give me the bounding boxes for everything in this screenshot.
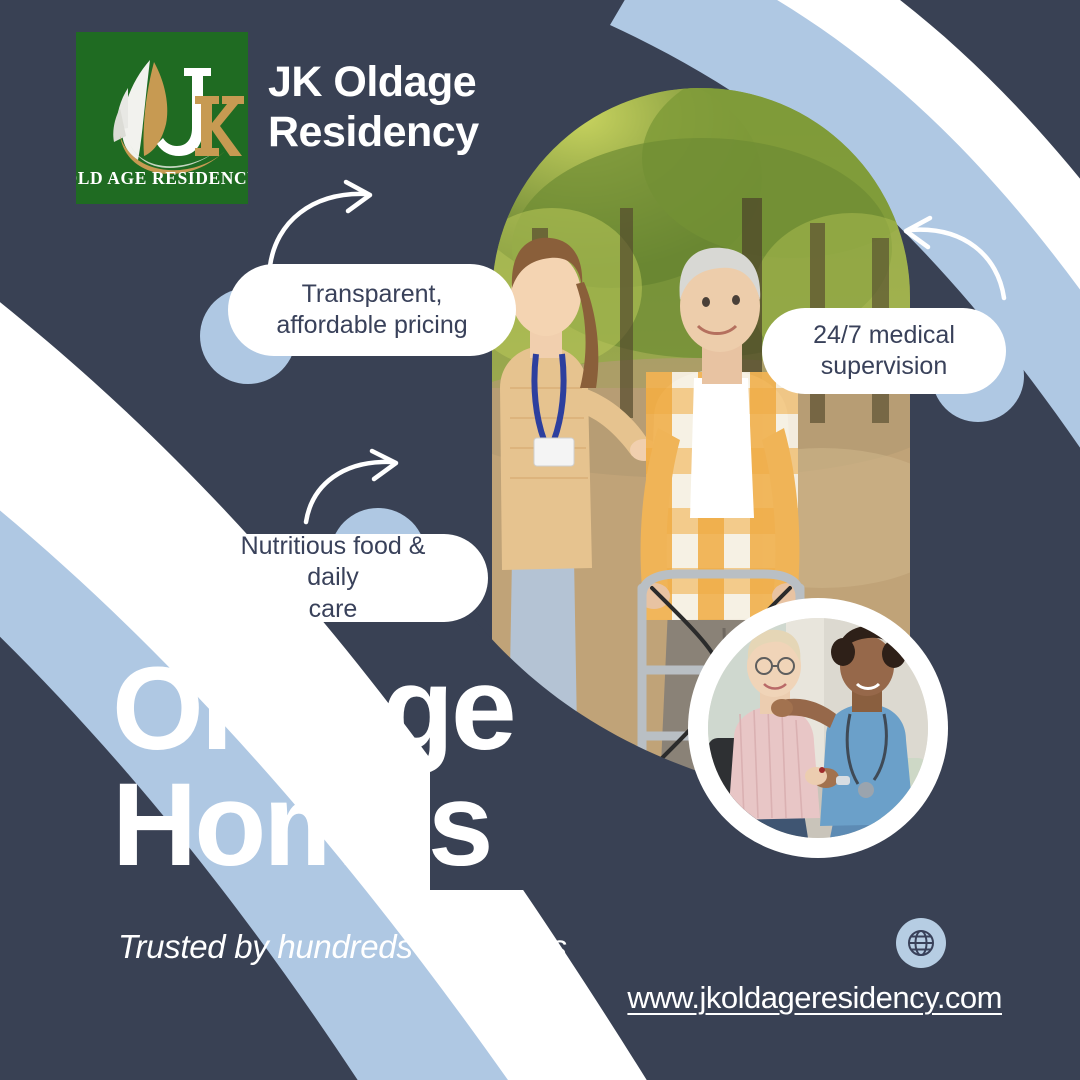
brand-name: JK Oldage Residency	[268, 32, 479, 158]
inset-photo-frame	[688, 598, 948, 858]
headline-line2: Homes	[112, 768, 514, 884]
feature-pill-medical[interactable]: 24/7 medicalsupervision	[762, 308, 1006, 394]
globe-icon	[896, 918, 946, 968]
tagline: Trusted by hundreds of families	[118, 928, 567, 966]
feature-pill-pricing[interactable]: Transparent,affordable pricing	[228, 264, 516, 356]
inset-photo-senior-and-nurse	[708, 618, 928, 838]
brand-name-line1: JK Oldage	[268, 58, 479, 108]
curved-arrow-left-icon	[896, 212, 1012, 304]
footer-website-block: www.jkoldageresidency.com	[627, 918, 1002, 1016]
logo-box: OLD AGE RESIDENCY	[76, 32, 248, 204]
jk-old-age-residency-logo-icon: OLD AGE RESIDENCY	[76, 32, 248, 204]
feature-pill-pricing-text: Transparent,affordable pricing	[276, 279, 467, 342]
feature-pill-medical-text: 24/7 medicalsupervision	[813, 320, 955, 383]
poster-canvas: OLD AGE RESIDENCY JK Oldage Residency	[0, 0, 1080, 1080]
website-link[interactable]: www.jkoldageresidency.com	[627, 980, 1002, 1016]
feature-pill-food-text: Nutritious food & dailycare	[212, 531, 454, 626]
brand-name-line2: Residency	[268, 108, 479, 158]
logo-subtitle-text: OLD AGE RESIDENCY	[76, 168, 248, 188]
page-title: OldAge Homes	[112, 652, 514, 883]
feature-pill-food[interactable]: Nutritious food & dailycare	[178, 534, 488, 622]
headline-line1: OldAge	[112, 652, 514, 768]
brand-header: OLD AGE RESIDENCY JK Oldage Residency	[76, 32, 479, 204]
